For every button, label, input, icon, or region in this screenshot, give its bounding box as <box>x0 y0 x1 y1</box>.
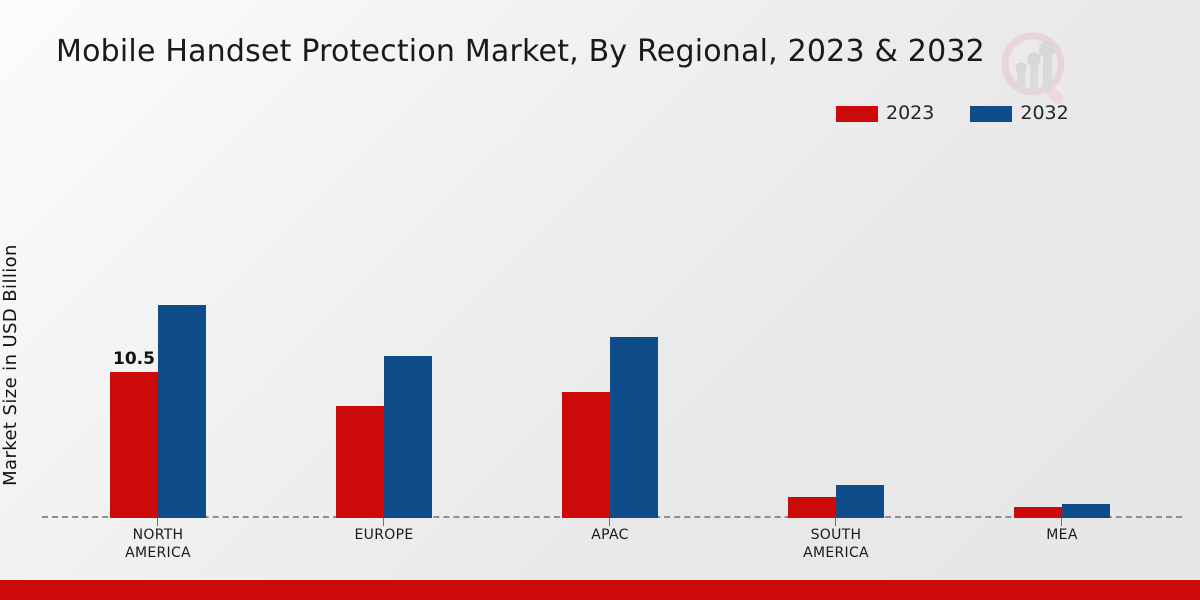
legend-item-2023[interactable]: 2023 <box>836 104 934 123</box>
category-label-line1: APAC <box>520 526 700 544</box>
category-label-line2: AMERICA <box>68 544 248 562</box>
bar-north-america-2023[interactable]: 10.5 <box>110 372 158 518</box>
plot-area: 10.5 NORTH AMERICA EUROPE APAC <box>42 140 1182 518</box>
bar-apac-2032[interactable] <box>610 337 658 518</box>
category-label-mea: MEA <box>972 526 1152 544</box>
bar-group-europe: EUROPE <box>336 140 432 518</box>
chart-title: Mobile Handset Protection Market, By Reg… <box>56 34 985 69</box>
footer-accent-bar <box>0 580 1200 600</box>
bar-mea-2032[interactable] <box>1062 504 1110 518</box>
chart-figure: Mobile Handset Protection Market, By Reg… <box>0 0 1200 600</box>
bar-group-north-america: 10.5 NORTH AMERICA <box>110 140 206 518</box>
category-label-line1: SOUTH <box>746 526 926 544</box>
bar-group-south-america: SOUTH AMERICA <box>788 140 884 518</box>
legend-swatch-2023 <box>836 106 878 122</box>
axis-tick-mea <box>1061 518 1062 526</box>
bar-apac-2023[interactable] <box>562 392 610 518</box>
legend-swatch-2032 <box>970 106 1012 122</box>
bar-south-america-2032[interactable] <box>836 485 884 518</box>
legend-label-2032: 2032 <box>1020 104 1068 123</box>
bar-south-america-2023[interactable] <box>788 497 836 518</box>
axis-tick-europe <box>383 518 384 526</box>
legend-label-2023: 2023 <box>886 104 934 123</box>
watermark-logo-icon <box>995 28 1081 108</box>
axis-tick-apac <box>609 518 610 526</box>
axis-tick-north-america <box>157 518 158 526</box>
category-label-line1: NORTH <box>68 526 248 544</box>
bar-mea-2023[interactable] <box>1014 507 1062 518</box>
bar-north-america-2032[interactable] <box>158 305 206 518</box>
category-label-line1: EUROPE <box>294 526 474 544</box>
legend-item-2032[interactable]: 2032 <box>970 104 1068 123</box>
category-label-south-america: SOUTH AMERICA <box>746 526 926 562</box>
category-label-europe: EUROPE <box>294 526 474 544</box>
category-label-line1: MEA <box>972 526 1152 544</box>
category-label-line2: AMERICA <box>746 544 926 562</box>
bar-europe-2023[interactable] <box>336 406 384 518</box>
axis-tick-south-america <box>835 518 836 526</box>
bar-group-mea: MEA <box>1014 140 1110 518</box>
bar-group-apac: APAC <box>562 140 658 518</box>
y-axis-title: Market Size in USD Billion <box>0 200 21 530</box>
chart-legend: 2023 2032 <box>836 104 1069 123</box>
bar-europe-2032[interactable] <box>384 356 432 518</box>
category-label-north-america: NORTH AMERICA <box>68 526 248 562</box>
category-label-apac: APAC <box>520 526 700 544</box>
